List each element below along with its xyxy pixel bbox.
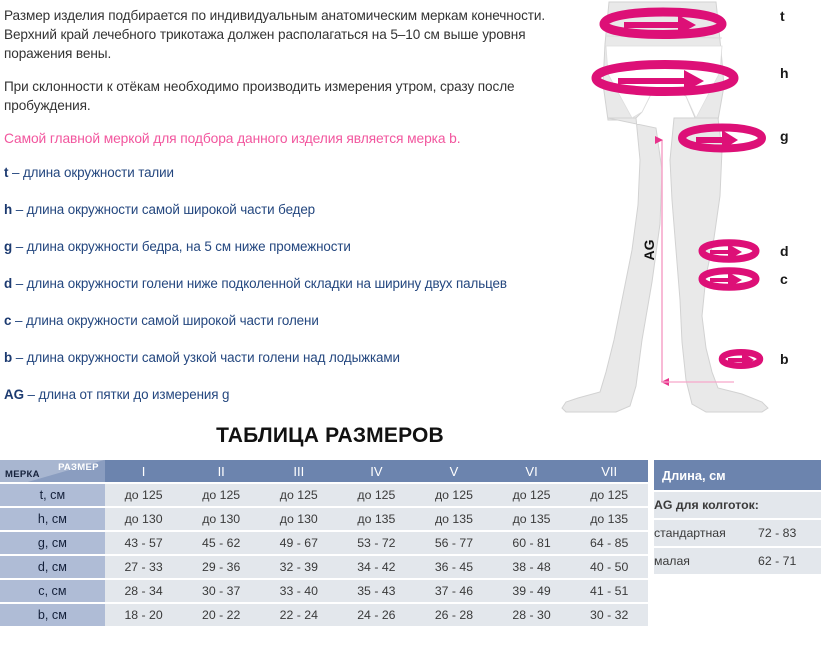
definition-text-h: – длина окружности самой широкой части б…: [16, 202, 315, 217]
cell-h-7: до 135: [570, 508, 648, 530]
top-section: Размер изделия подбирается по индивидуал…: [0, 0, 821, 418]
table-row: g, см 43 - 57 45 - 62 49 - 67 53 - 72 56…: [0, 532, 648, 554]
cell-c-4: 35 - 43: [338, 580, 416, 602]
length-value-standard: 72 - 83: [758, 520, 821, 546]
cell-b-2: 20 - 22: [182, 604, 260, 626]
cell-c-2: 30 - 37: [182, 580, 260, 602]
cell-h-2: до 130: [182, 508, 260, 530]
cell-b-7: 30 - 32: [570, 604, 648, 626]
length-header-row: Длина, см: [654, 460, 821, 490]
definition-item-c: c – длина окружности самой широкой части…: [4, 312, 560, 330]
cell-b-5: 26 - 28: [415, 604, 493, 626]
cell-h-6: до 135: [493, 508, 571, 530]
length-row: стандартная 72 - 83: [654, 520, 821, 546]
cell-d-6: 38 - 48: [493, 556, 571, 578]
cell-t-5: до 125: [415, 484, 493, 506]
column-header-5: V: [415, 460, 493, 482]
table-row: t, см до 125 до 125 до 125 до 125 до 125…: [0, 484, 648, 506]
length-name-standard: стандартная: [654, 520, 758, 546]
row-label-h: h, см: [0, 508, 105, 530]
definition-key-b: b: [4, 350, 12, 365]
definition-item-h: h – длина окружности самой широкой части…: [4, 201, 560, 219]
definition-key-h: h: [4, 202, 12, 217]
definition-key-t: t: [4, 165, 8, 180]
cell-c-5: 37 - 46: [415, 580, 493, 602]
definition-text-t: – длина окружности талии: [12, 165, 174, 180]
length-value-small: 62 - 71: [758, 548, 821, 574]
definition-key-g: g: [4, 239, 12, 254]
table-header-row: РАЗМЕР МЕРКА I II III IV V VI VII: [0, 460, 648, 482]
length-subtitle-row: AG для колготок:: [654, 492, 821, 518]
cell-g-7: 64 - 85: [570, 532, 648, 554]
cell-b-1: 18 - 20: [105, 604, 183, 626]
cell-b-3: 22 - 24: [260, 604, 338, 626]
cell-g-2: 45 - 62: [182, 532, 260, 554]
row-label-d: d, см: [0, 556, 105, 578]
column-header-2: II: [182, 460, 260, 482]
size-table: РАЗМЕР МЕРКА I II III IV V VI VII t, см …: [0, 458, 648, 628]
column-header-3: III: [260, 460, 338, 482]
row-label-g: g, см: [0, 532, 105, 554]
length-subtitle: AG для колготок:: [654, 492, 821, 518]
highlight-note: Самой главной меркой для подбора данного…: [4, 129, 560, 148]
figure-label-c: c: [780, 271, 788, 287]
cell-d-1: 27 - 33: [105, 556, 183, 578]
anatomical-figure: AG: [556, 0, 821, 418]
cell-d-3: 32 - 39: [260, 556, 338, 578]
definition-text-g: – длина окружности бедра, на 5 см ниже п…: [16, 239, 351, 254]
column-header-6: VI: [493, 460, 571, 482]
column-header-7: VII: [570, 460, 648, 482]
cell-h-4: до 135: [338, 508, 416, 530]
cell-g-5: 56 - 77: [415, 532, 493, 554]
definition-item-t: t – длина окружности талии: [4, 164, 560, 182]
table-row: h, см до 130 до 130 до 130 до 135 до 135…: [0, 508, 648, 530]
definition-key-ag: AG: [4, 387, 24, 402]
cell-h-5: до 135: [415, 508, 493, 530]
row-label-t: t, см: [0, 484, 105, 506]
cell-d-7: 40 - 50: [570, 556, 648, 578]
intro-paragraph-2: При склонности к отёкам необходимо произ…: [4, 77, 560, 115]
cell-h-1: до 130: [105, 508, 183, 530]
cell-b-6: 28 - 30: [493, 604, 571, 626]
column-header-4: IV: [338, 460, 416, 482]
definition-item-ag: AG – длина от пятки до измерения g: [4, 386, 560, 404]
definition-item-g: g – длина окружности бедра, на 5 см ниже…: [4, 238, 560, 256]
figure-label-t: t: [780, 8, 785, 24]
length-table: Длина, см AG для колготок: стандартная 7…: [654, 458, 821, 576]
cell-g-6: 60 - 81: [493, 532, 571, 554]
definition-item-d: d – длина окружности голени ниже подколе…: [4, 275, 560, 293]
length-name-small: малая: [654, 548, 758, 574]
intro-text-column: Размер изделия подбирается по индивидуал…: [4, 6, 560, 423]
cell-h-3: до 130: [260, 508, 338, 530]
cell-t-1: до 125: [105, 484, 183, 506]
definition-text-c: – длина окружности самой широкой части г…: [15, 313, 319, 328]
cell-g-1: 43 - 57: [105, 532, 183, 554]
figure-label-g: g: [780, 128, 789, 144]
table-corner-cell: РАЗМЕР МЕРКА: [0, 460, 105, 482]
corner-size-label: РАЗМЕР: [58, 462, 99, 473]
cell-t-3: до 125: [260, 484, 338, 506]
cell-d-2: 29 - 36: [182, 556, 260, 578]
cell-c-6: 39 - 49: [493, 580, 571, 602]
figure-label-h: h: [780, 65, 789, 81]
definition-item-b: b – длина окружности самой узкой части г…: [4, 349, 560, 367]
cell-t-7: до 125: [570, 484, 648, 506]
definition-text-d: – длина окружности голени ниже подколенн…: [16, 276, 507, 291]
cell-d-5: 36 - 45: [415, 556, 493, 578]
table-row: b, см 18 - 20 20 - 22 22 - 24 24 - 26 26…: [0, 604, 648, 626]
cell-c-1: 28 - 34: [105, 580, 183, 602]
column-header-1: I: [105, 460, 183, 482]
table-row: d, см 27 - 33 29 - 36 32 - 39 34 - 42 36…: [0, 556, 648, 578]
figure-label-d: d: [780, 243, 789, 259]
cell-t-6: до 125: [493, 484, 571, 506]
ag-label: AG: [641, 239, 657, 260]
table-row: c, см 28 - 34 30 - 37 33 - 40 35 - 43 37…: [0, 580, 648, 602]
definition-text-b: – длина окружности самой узкой части гол…: [16, 350, 400, 365]
cell-t-2: до 125: [182, 484, 260, 506]
page-title: ТАБЛИЦА РАЗМЕРОВ: [0, 424, 660, 448]
corner-measure-label: МЕРКА: [5, 469, 40, 480]
definition-key-d: d: [4, 276, 12, 291]
row-label-c: c, см: [0, 580, 105, 602]
definition-text-ag: – длина от пятки до измерения g: [28, 387, 230, 402]
intro-paragraph-1: Размер изделия подбирается по индивидуал…: [4, 6, 560, 63]
cell-c-3: 33 - 40: [260, 580, 338, 602]
length-row: малая 62 - 71: [654, 548, 821, 574]
cell-g-3: 49 - 67: [260, 532, 338, 554]
measurement-definitions-list: t – длина окружности талии h – длина окр…: [4, 164, 560, 404]
figure-label-b: b: [780, 351, 789, 367]
length-table-header: Длина, см: [654, 460, 821, 490]
cell-c-7: 41 - 51: [570, 580, 648, 602]
cell-d-4: 34 - 42: [338, 556, 416, 578]
definition-key-c: c: [4, 313, 11, 328]
cell-t-4: до 125: [338, 484, 416, 506]
cell-b-4: 24 - 26: [338, 604, 416, 626]
cell-g-4: 53 - 72: [338, 532, 416, 554]
row-label-b: b, см: [0, 604, 105, 626]
